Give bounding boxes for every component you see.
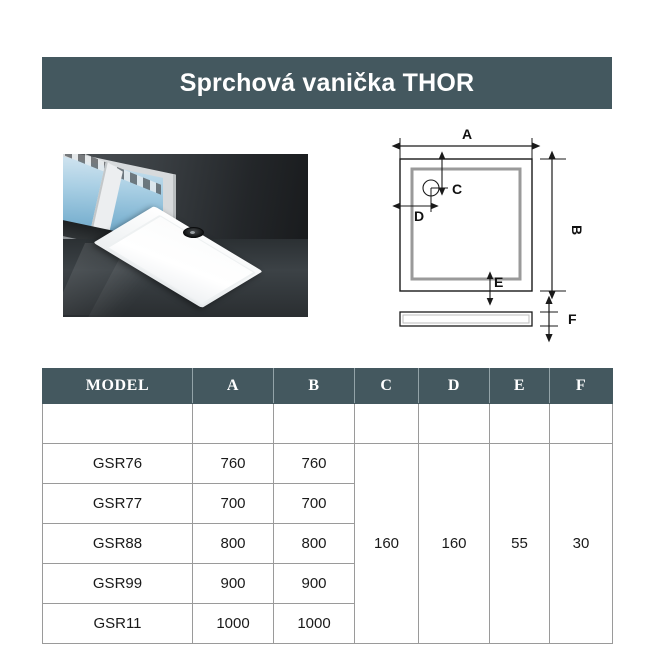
cell-f-merged: 30 bbox=[550, 444, 613, 644]
cell-d-merged: 160 bbox=[419, 444, 490, 644]
gap-cell bbox=[355, 404, 419, 444]
column-header-a: A bbox=[193, 369, 274, 404]
page-root: Sprchová vanička THOR bbox=[0, 0, 650, 650]
cell-b: 800 bbox=[274, 524, 355, 564]
specification-table: MODEL A B C D E F bbox=[42, 368, 612, 644]
technical-drawing: A B C D E F bbox=[380, 126, 595, 351]
column-header-f: F bbox=[550, 369, 613, 404]
gap-cell bbox=[419, 404, 490, 444]
page-title: Sprchová vanička THOR bbox=[180, 69, 475, 98]
column-header-c: C bbox=[355, 369, 419, 404]
column-header-model: MODEL bbox=[43, 369, 193, 404]
column-header-e: E bbox=[490, 369, 550, 404]
table-header-gap bbox=[43, 404, 613, 444]
cell-a: 700 bbox=[193, 484, 274, 524]
column-header-d: D bbox=[419, 369, 490, 404]
cell-model: GSR11 bbox=[43, 604, 193, 644]
cell-a: 1000 bbox=[193, 604, 274, 644]
gap-cell bbox=[490, 404, 550, 444]
cell-a: 800 bbox=[193, 524, 274, 564]
cell-e-merged: 55 bbox=[490, 444, 550, 644]
product-photo bbox=[63, 154, 308, 317]
title-banner: Sprchová vanička THOR bbox=[42, 57, 612, 109]
cell-a: 760 bbox=[193, 444, 274, 484]
dimension-label-d: D bbox=[414, 208, 424, 224]
drain-cover-icon bbox=[183, 227, 204, 238]
cell-b: 700 bbox=[274, 484, 355, 524]
dimension-label-c: C bbox=[452, 181, 462, 197]
dimension-label-a: A bbox=[462, 126, 472, 142]
dimension-label-f: F bbox=[568, 311, 577, 327]
cell-a: 900 bbox=[193, 564, 274, 604]
dimension-label-e: E bbox=[494, 274, 503, 290]
cell-b: 1000 bbox=[274, 604, 355, 644]
table-row: GSR76 760 760 160 160 55 30 bbox=[43, 444, 613, 484]
cell-b: 900 bbox=[274, 564, 355, 604]
cell-model: GSR88 bbox=[43, 524, 193, 564]
gap-cell bbox=[43, 404, 193, 444]
cell-c-merged: 160 bbox=[355, 444, 419, 644]
table-header-row: MODEL A B C D E F bbox=[43, 369, 613, 404]
gap-cell bbox=[193, 404, 274, 444]
cell-model: GSR76 bbox=[43, 444, 193, 484]
gap-cell bbox=[274, 404, 355, 444]
shower-tray-render bbox=[85, 194, 275, 312]
cell-b: 760 bbox=[274, 444, 355, 484]
column-header-b: B bbox=[274, 369, 355, 404]
dimension-label-b: B bbox=[569, 225, 585, 235]
cell-model: GSR99 bbox=[43, 564, 193, 604]
drain-highlight bbox=[190, 231, 195, 234]
cell-model: GSR77 bbox=[43, 484, 193, 524]
gap-cell bbox=[550, 404, 613, 444]
